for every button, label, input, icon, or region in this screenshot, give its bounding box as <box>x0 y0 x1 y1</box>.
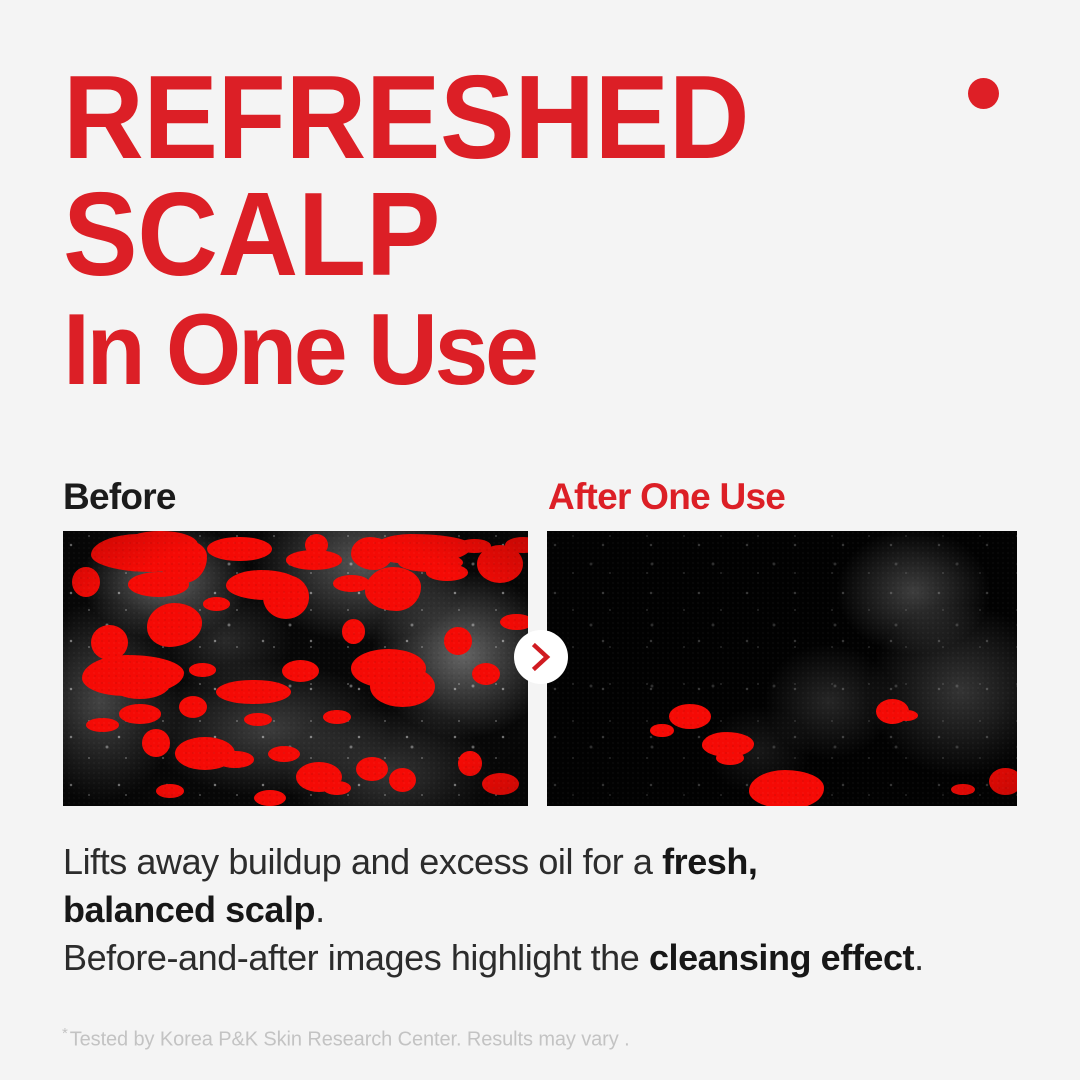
page-title: REFRESHED SCALP In One Use <box>63 63 943 398</box>
headline-line-2: SCALP <box>63 180 890 291</box>
chevron-right-icon <box>529 642 553 672</box>
footnote-text: Tested by Korea P&K Skin Research Center… <box>70 1029 630 1051</box>
footnote: *Tested by Korea P&K Skin Research Cente… <box>62 1025 630 1052</box>
headline-line-1: REFRESHED <box>63 63 890 174</box>
before-image-panel <box>63 531 528 806</box>
body-line-2: balanced scalp. <box>63 886 1023 934</box>
headline-line-3: In One Use <box>63 304 908 398</box>
footnote-asterisk: * <box>62 1025 68 1042</box>
before-vignette <box>63 531 528 806</box>
after-vignette <box>547 531 1017 806</box>
after-image-panel <box>547 531 1017 806</box>
comparison-next-button[interactable] <box>514 630 568 684</box>
body-line-3: Before-and-after images highlight the cl… <box>63 934 1023 982</box>
body-copy: Lifts away buildup and excess oil for a … <box>63 838 1023 982</box>
poster-canvas: REFRESHED SCALP In One Use Before After … <box>0 0 1080 1080</box>
red-dot-icon <box>968 78 999 109</box>
body-line-1: Lifts away buildup and excess oil for a … <box>63 838 1023 886</box>
before-label: Before <box>63 478 176 515</box>
after-label: After One Use <box>548 478 785 515</box>
